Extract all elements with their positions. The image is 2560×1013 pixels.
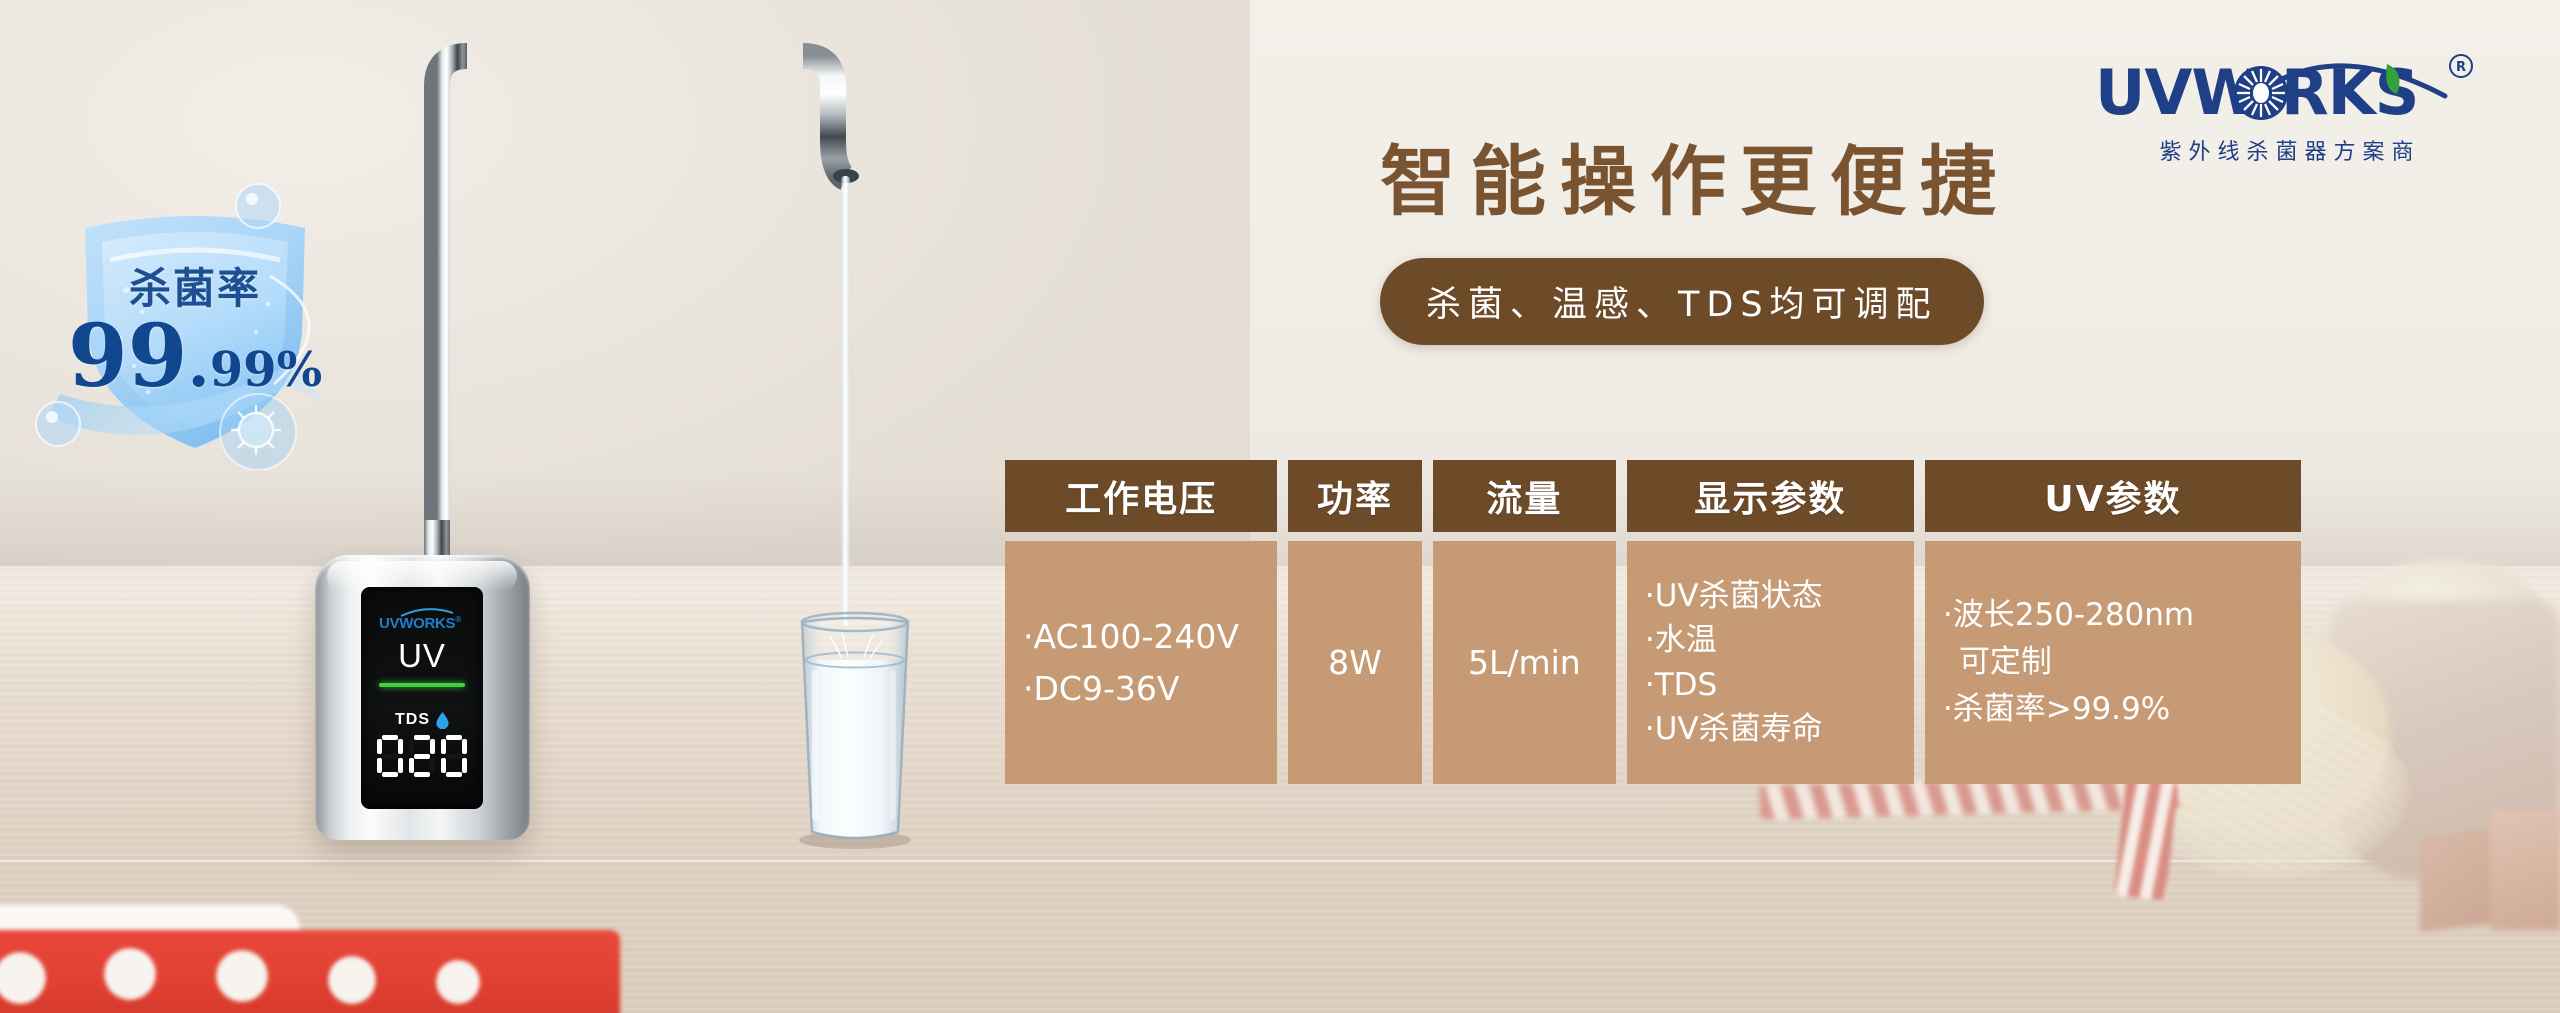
spec-body: ·UV杀菌状态 ·水温 ·TDS ·UV杀菌寿命	[1627, 541, 1914, 784]
spec-line: ·UV杀菌寿命	[1645, 707, 1823, 751]
spec-line: ·波长250-280nm	[1943, 592, 2194, 639]
spec-body: ·AC100-240V ·DC9-36V	[1005, 541, 1277, 784]
polka-dot-cloth-prop	[0, 930, 620, 1013]
spec-body: 8W	[1288, 541, 1422, 784]
spec-column-voltage: 工作电压 ·AC100-240V ·DC9-36V	[1005, 460, 1277, 784]
water-stream	[841, 176, 850, 626]
svg-text:RKS: RKS	[2281, 56, 2418, 129]
spec-header: UV参数	[1925, 460, 2301, 532]
spec-line: 8W	[1328, 637, 1382, 688]
spec-column-display: 显示参数 ·UV杀菌状态 ·水温 ·TDS ·UV杀菌寿命	[1627, 460, 1914, 784]
water-glass	[790, 600, 920, 850]
water-drop-icon	[436, 712, 449, 729]
spec-line: ·杀菌率>99.9%	[1943, 686, 2170, 733]
screen-logo-registered-icon: ®	[455, 615, 461, 624]
device-display-screen: UVWORKS® UV TDS	[361, 587, 483, 809]
spec-line: 可定制	[1943, 639, 2052, 686]
counter-edge-line	[0, 860, 2560, 864]
seven-seg-digit	[441, 735, 467, 777]
screen-tds-label: TDS	[395, 711, 430, 729]
screen-mode-label: UV	[398, 639, 446, 672]
screen-logo-text: UVWORKS	[379, 615, 455, 632]
uvworks-logo-icon: UVW RKS	[2095, 38, 2485, 138]
spec-line: 5L/min	[1468, 637, 1581, 688]
spec-column-flow: 流量 5L/min	[1433, 460, 1616, 784]
spec-line: ·UV杀菌状态	[1645, 574, 1823, 618]
product-banner: 杀菌率 99 . 99% UVWORKS® UV TDS	[0, 0, 2560, 1013]
screen-brand-logo: UVWORKS®	[379, 607, 465, 627]
feature-pill: 杀菌、温感、TDS均可调配	[1380, 258, 1984, 345]
spec-body: ·波长250-280nm 可定制 ·杀菌率>99.9%	[1925, 541, 2301, 784]
spec-table: 工作电压 ·AC100-240V ·DC9-36V 功率 8W 流量 5L/mi…	[1005, 460, 2301, 784]
spec-header: 显示参数	[1627, 460, 1914, 532]
screen-status-bar	[379, 683, 465, 687]
spec-line: ·水温	[1645, 618, 1717, 662]
sterilization-rate-badge: 杀菌率 99 . 99%	[30, 180, 360, 470]
brand-tagline: 紫外线杀菌器方案商	[2095, 134, 2485, 166]
shield-icon	[30, 180, 360, 470]
seven-seg-digit	[409, 735, 435, 777]
uv-sterilizer-device: UVWORKS® UV TDS	[315, 555, 530, 840]
spec-header: 工作电压	[1005, 460, 1277, 532]
seven-seg-digit	[377, 735, 403, 777]
spec-column-power: 功率 8W	[1288, 460, 1422, 784]
screen-tds-value	[377, 735, 467, 777]
wood-block-prop-b	[2490, 810, 2560, 930]
spec-line: ·TDS	[1645, 663, 1717, 707]
spec-header: 流量	[1433, 460, 1616, 532]
spec-line: ·DC9-36V	[1023, 663, 1179, 714]
brand-logo: UVW RKS	[2095, 38, 2485, 168]
spec-column-uv: UV参数 ·波长250-280nm 可定制 ·杀菌率>99.9%	[1925, 460, 2301, 784]
screen-tds-row: TDS	[395, 711, 449, 729]
page-title: 智能操作更便捷	[1380, 120, 2010, 230]
svg-text:R: R	[2456, 60, 2466, 75]
spec-line: ·AC100-240V	[1023, 611, 1239, 662]
spec-body: 5L/min	[1433, 541, 1616, 784]
spec-header: 功率	[1288, 460, 1422, 532]
